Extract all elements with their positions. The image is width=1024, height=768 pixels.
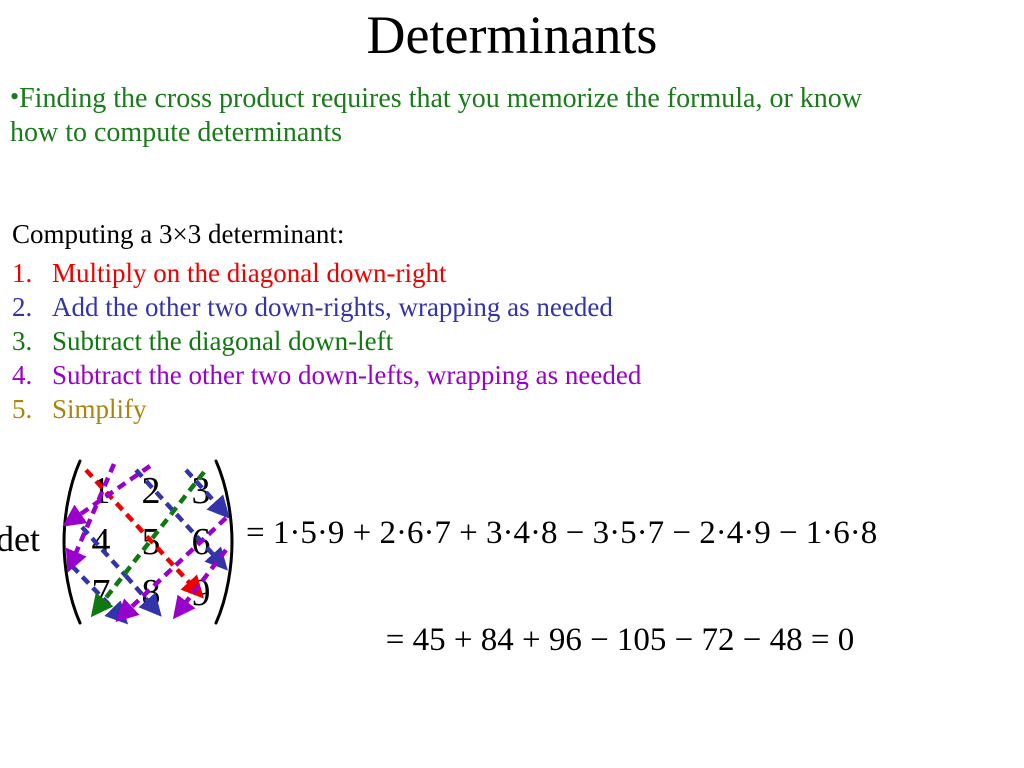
step-number: 5.: [12, 392, 52, 426]
determinant-equation-line-1: = 1·5·9 + 2·6·7 + 3·4·8 − 3·5·7 − 2·4·9 …: [246, 513, 877, 553]
list-item: 3. Subtract the diagonal down-left: [12, 324, 952, 358]
step-number: 4.: [12, 358, 52, 392]
step-number: 3.: [12, 324, 52, 358]
step-label: Add the other two down-rights, wrapping …: [52, 290, 952, 324]
page-title: Determinants: [0, 4, 1024, 66]
matrix-cells: 1 2 3 4 5 6 7 8 9: [76, 466, 226, 618]
matrix-cell-r3c2: 8: [126, 568, 176, 618]
step-number: 2.: [12, 290, 52, 324]
computing-heading: Computing a 3×3 determinant:: [12, 218, 344, 251]
step-number: 1.: [12, 256, 52, 290]
determinant-expression: det 1 2 3 4 5 6 7 8 9: [0, 455, 1024, 645]
matrix-cell-r1c1: 1: [76, 466, 126, 516]
matrix-cell-r1c3: 3: [176, 466, 226, 516]
steps-list: 1. Multiply on the diagonal down-right 2…: [12, 256, 952, 426]
step-label: Subtract the diagonal down-left: [52, 324, 952, 358]
step-label: Subtract the other two down-lefts, wrapp…: [52, 358, 952, 392]
bullet-marker-icon: •: [10, 82, 19, 111]
det-operator-label: det: [0, 519, 40, 559]
matrix-cell-r3c3: 9: [176, 568, 226, 618]
matrix-cell-r2c3: 6: [176, 517, 226, 567]
bullet-text: Finding the cross product requires that …: [10, 83, 862, 148]
list-item: 5. Simplify: [12, 392, 952, 426]
step-label: Simplify: [52, 392, 952, 426]
matrix-cell-r2c2: 5: [126, 517, 176, 567]
list-item: 2. Add the other two down-rights, wrappi…: [12, 290, 952, 324]
matrix-cell-r3c1: 7: [76, 568, 126, 618]
matrix-3x3: 1 2 3 4 5 6 7 8 9: [58, 458, 238, 626]
matrix-cell-r1c2: 2: [126, 466, 176, 516]
bullet-paragraph: •Finding the cross product requires that…: [10, 80, 890, 150]
matrix-cell-r2c1: 4: [76, 517, 126, 567]
list-item: 1. Multiply on the diagonal down-right: [12, 256, 952, 290]
step-label: Multiply on the diagonal down-right: [52, 256, 952, 290]
list-item: 4. Subtract the other two down-lefts, wr…: [12, 358, 952, 392]
determinant-equation-line-2: = 45 + 84 + 96 − 105 − 72 − 48 = 0: [240, 620, 1000, 660]
